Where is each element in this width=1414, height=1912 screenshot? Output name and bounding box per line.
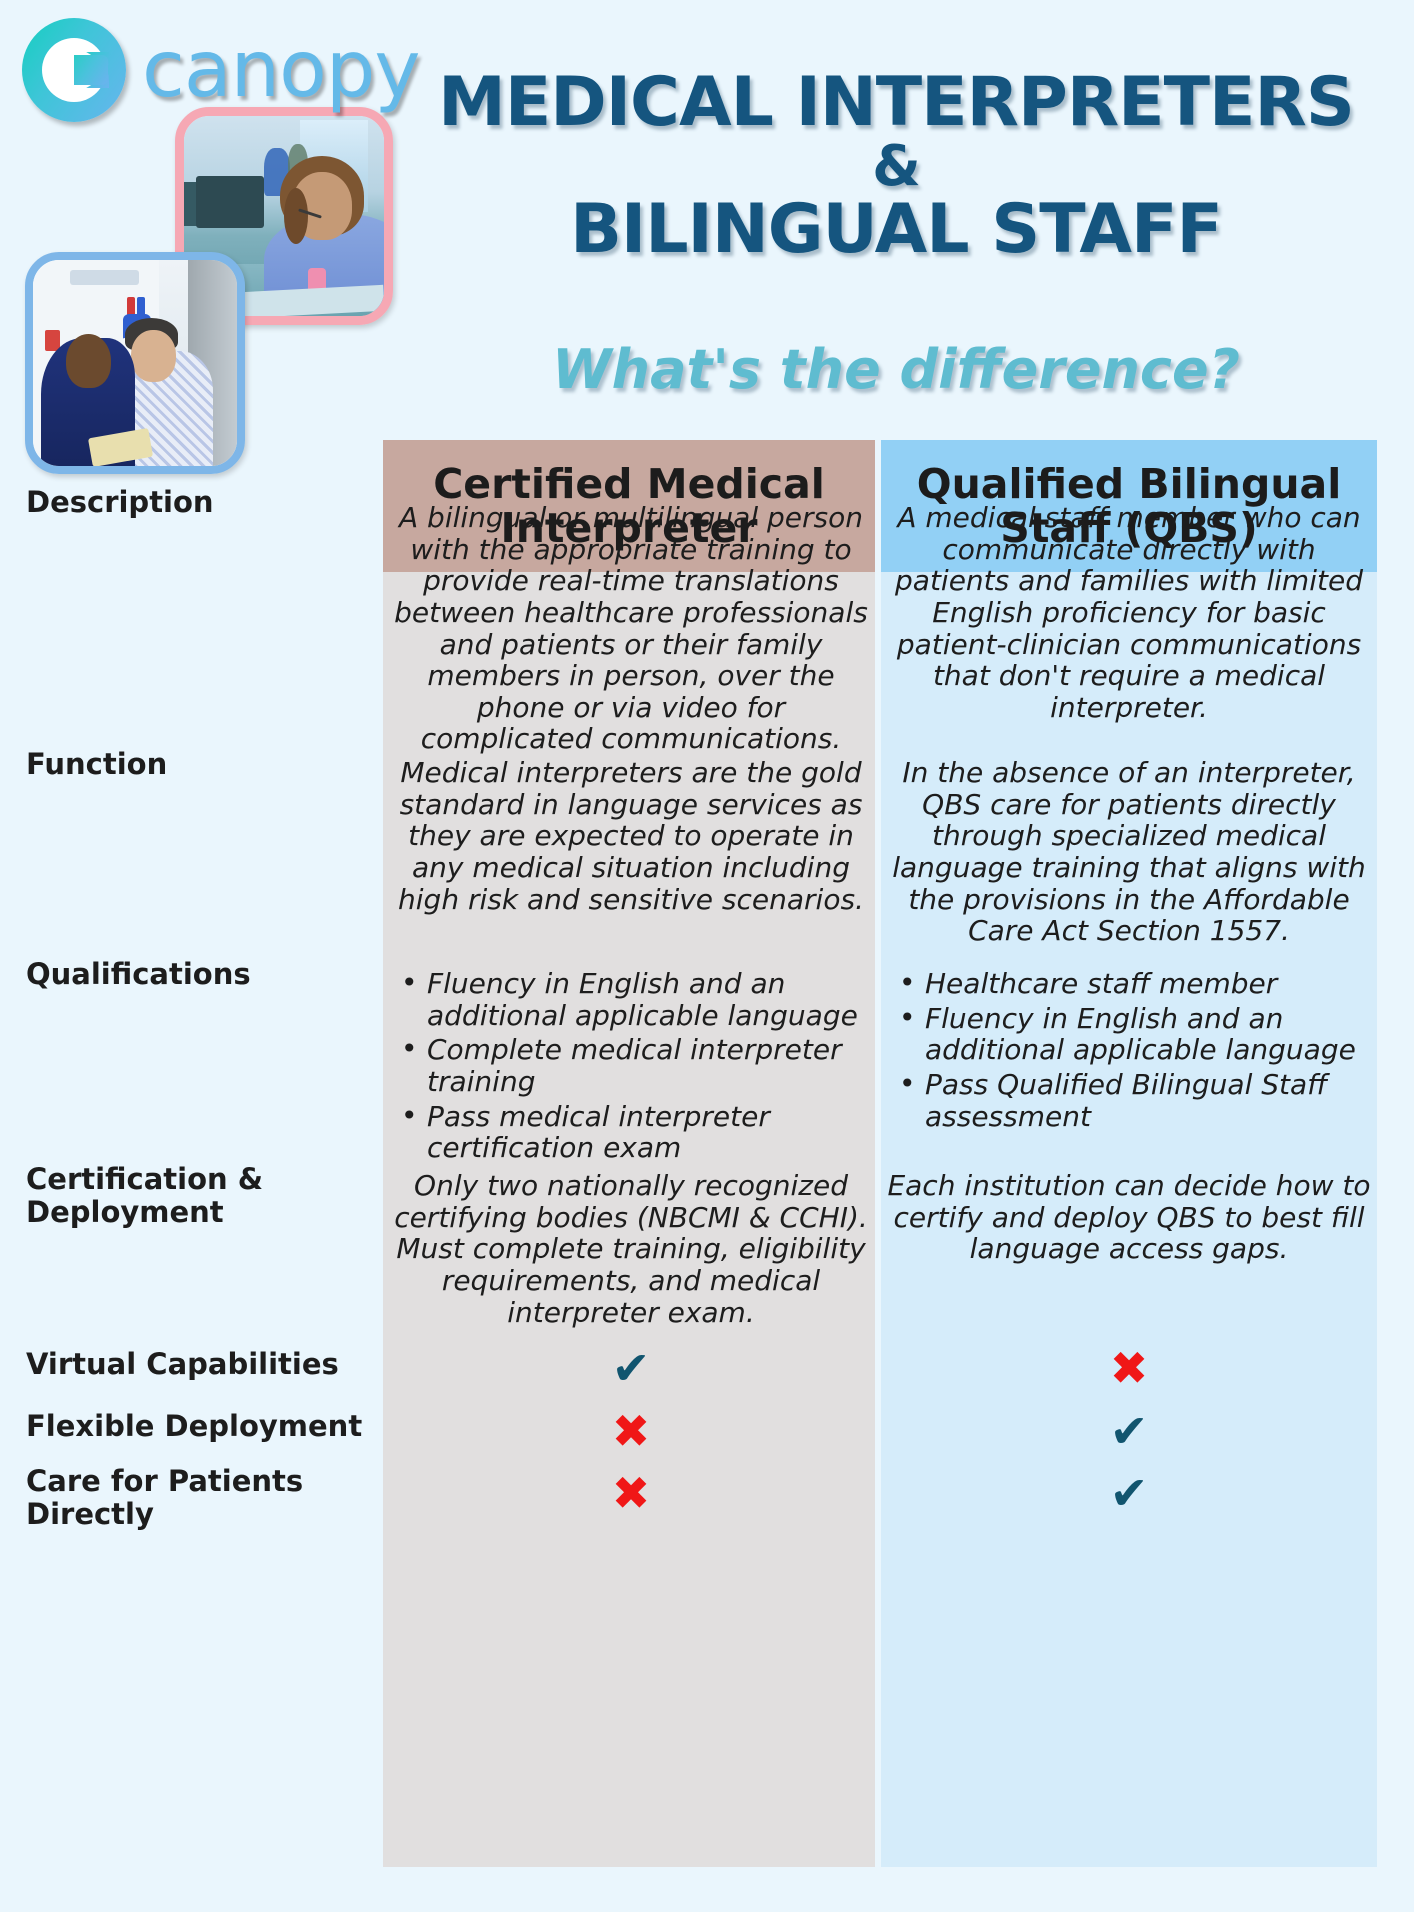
nurse-patient-photo (25, 252, 245, 474)
row-label-function: Function (26, 748, 376, 781)
cell-qualifications-cmi: Fluency in English and an additional app… (397, 968, 875, 1167)
row-label-description: Description (26, 486, 376, 519)
row-label-flexible-deployment: Flexible Deployment (26, 1410, 376, 1443)
check-icon-care-directly-qbs: ✔ (887, 1470, 1371, 1516)
cross-icon-virtual-capabilities-qbs: ✖ (887, 1345, 1371, 1391)
brand-logo: canopy (22, 18, 420, 122)
cell-qualifications-qbs: Healthcare staff member Fluency in Engli… (895, 968, 1373, 1135)
infographic-page: canopy (0, 0, 1414, 1912)
cross-icon-care-directly-cmi: ✖ (389, 1470, 873, 1516)
canopy-c-logo-icon (22, 18, 126, 122)
cell-function-qbs: In the absence of an interpreter, QBS ca… (887, 757, 1371, 947)
list-item: Complete medical interpreter training (397, 1034, 875, 1097)
row-label-certification-deployment: Certification & Deployment (26, 1163, 376, 1229)
brand-wordmark: canopy (142, 31, 420, 109)
cell-certification-cmi: Only two nationally recognized certifyin… (389, 1170, 873, 1328)
list-item: Pass medical interpreter certification e… (397, 1101, 875, 1164)
cell-certification-qbs: Each institution can decide how to certi… (887, 1170, 1371, 1265)
cross-icon-flexible-deployment-cmi: ✖ (389, 1408, 873, 1454)
check-icon-virtual-capabilities-cmi: ✔ (389, 1345, 873, 1391)
cell-function-cmi: Medical interpreters are the gold standa… (389, 757, 873, 915)
cell-description-cmi: A bilingual or multilingual person with … (389, 502, 873, 755)
page-subtitle: What's the difference? (396, 338, 1396, 401)
qualifications-list-cmi: Fluency in English and an additional app… (397, 968, 875, 1164)
list-item: Fluency in English and an additional app… (397, 968, 875, 1031)
cell-description-qbs: A medical staff member who can communica… (887, 502, 1371, 723)
qualifications-list-qbs: Healthcare staff member Fluency in Engli… (895, 968, 1373, 1132)
row-label-care-for-patients-directly: Care for Patients Directly (26, 1465, 376, 1531)
title-line-2: BILINGUAL STAFF (570, 190, 1222, 269)
page-title: MEDICAL INTERPRETERS & BILINGUAL STAFF (396, 70, 1396, 264)
title-line-1: MEDICAL INTERPRETERS (438, 63, 1354, 142)
row-label-virtual-capabilities: Virtual Capabilities (26, 1348, 376, 1381)
comparison-table: Certified Medical Interpreter Qualified … (0, 440, 1414, 1900)
row-label-qualifications: Qualifications (26, 958, 376, 991)
list-item: Pass Qualified Bilingual Staff assessmen… (895, 1069, 1373, 1132)
title-ampersand: & (396, 137, 1396, 197)
list-item: Fluency in English and an additional app… (895, 1003, 1373, 1066)
check-icon-flexible-deployment-qbs: ✔ (887, 1408, 1371, 1454)
list-item: Healthcare staff member (895, 968, 1373, 1000)
